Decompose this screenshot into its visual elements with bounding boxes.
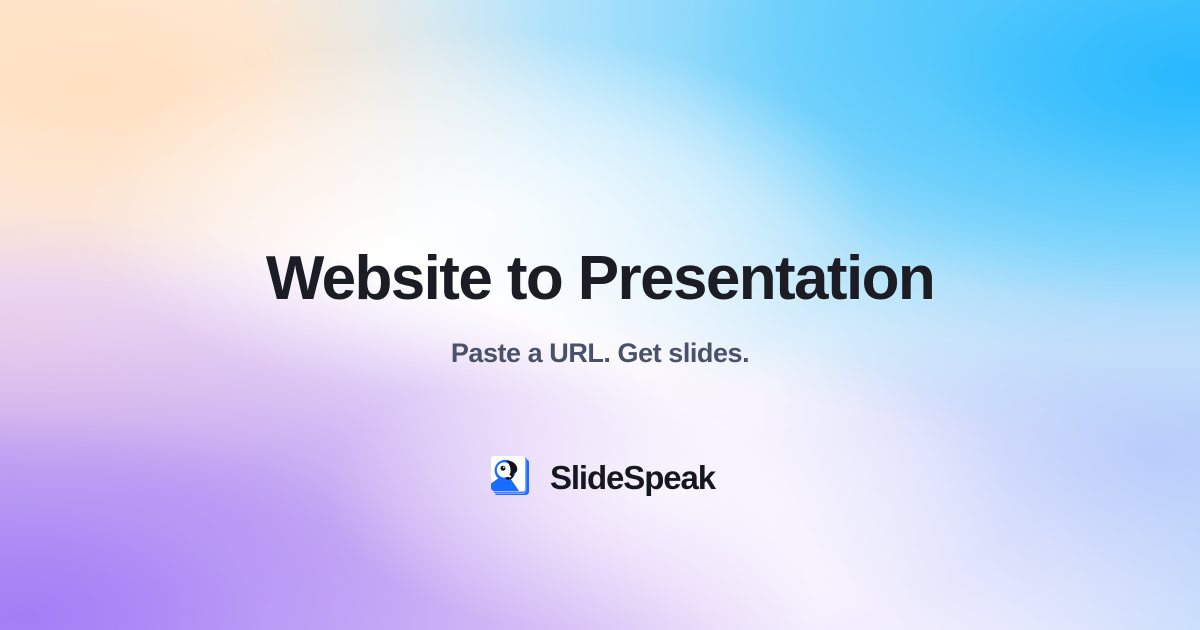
slidespeak-parrot-logo-icon [485, 453, 533, 501]
brand-lockup: SlideSpeak [485, 369, 715, 501]
og-share-card: Website to Presentation Paste a URL. Get… [0, 0, 1200, 630]
card-content: Website to Presentation Paste a URL. Get… [0, 0, 1200, 630]
page-title: Website to Presentation [266, 246, 934, 311]
page-subtitle: Paste a URL. Get slides. [451, 311, 749, 369]
brand-wordmark: SlideSpeak [550, 461, 715, 494]
